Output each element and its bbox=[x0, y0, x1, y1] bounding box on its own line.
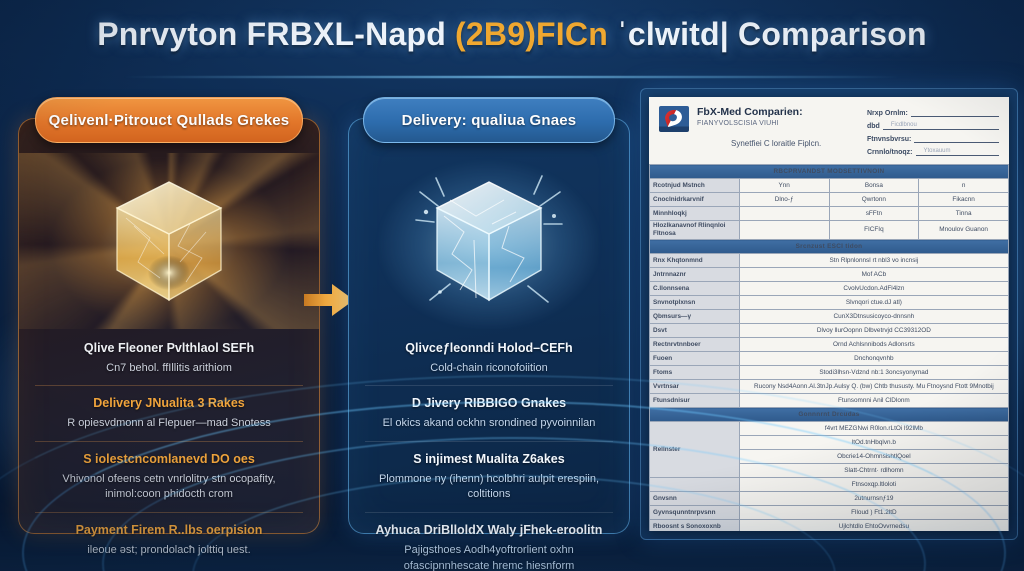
row-label: Snvnotplxnsn bbox=[650, 296, 740, 310]
row-label: Vvrtnsar bbox=[650, 380, 740, 394]
block-heading: Payment Firem R..lbs oerpision bbox=[35, 522, 303, 539]
glowing-amber-cube-icon bbox=[94, 166, 244, 316]
row-cell: sFFtn bbox=[829, 207, 919, 221]
block-text: Pajigsthoes Aodh4yoftrorlient oxhn ofasc… bbox=[365, 543, 613, 571]
table-row[interactable]: Rellnsterf4vrt MEZGNwi R0lon.rLtOi l92lM… bbox=[650, 422, 1009, 436]
row-cell: Obcrie14-OhmnsishtlQoel bbox=[739, 450, 1008, 464]
table-row[interactable]: Rcotnjud Mstnch Ynn Bonsa n bbox=[650, 179, 1009, 193]
table-row[interactable]: DsvtDlvoy llurOopnn Dlbvetrvjd CC39312OD bbox=[650, 324, 1009, 338]
row-cell: 2utnurnsnƒ19 bbox=[739, 492, 1008, 506]
form-field-0[interactable]: Nrxp Ornlm: bbox=[867, 108, 999, 117]
document-subtitle: FIANYVOLSCISIA VIUHI bbox=[697, 119, 859, 128]
logo-swirl-mark bbox=[663, 108, 684, 128]
row-label bbox=[650, 478, 740, 492]
panel-left-block-1: Delivery JNualita 3 Rakes R opiesvdmonn … bbox=[35, 385, 303, 440]
row-cell: Ftnsoxqp.ltloloti bbox=[739, 478, 1008, 492]
row-cell: CvolvUcdon.AdFl4lzn bbox=[739, 282, 1008, 296]
row-cell: ltOd.tnHbqlvn.b bbox=[739, 436, 1008, 450]
row-label: Gnvsnn bbox=[650, 492, 740, 506]
form-field-2[interactable]: Ftnvnsbvrsu: bbox=[867, 134, 999, 143]
row-cell: Stodi3lhsn-Vdznd nb:1 3oncsyonymad bbox=[739, 366, 1008, 380]
row-cell: Bonsa bbox=[829, 179, 919, 193]
panel-middle-header: Delivery: qualiua Gnaes bbox=[363, 97, 615, 143]
row-label: Rellnster bbox=[650, 422, 740, 478]
row-cell: f4vrt MEZGNwi R0lon.rLtOi l92lMb bbox=[739, 422, 1008, 436]
table-body: RBCPRVANDST MODSETTIVNOIN Rcotnjud Mstnc… bbox=[650, 165, 1009, 532]
block-heading: Ayhuca DriBlloldX Waly jFhek-eroolitn bbox=[365, 522, 613, 539]
table-row[interactable]: Cnoclnidrkarvnif Dlno-ƒ Qwrtonn Fikacnn bbox=[650, 193, 1009, 207]
row-cell: Qwrtonn bbox=[829, 193, 919, 207]
row-label: Rectnrvtnnboer bbox=[650, 338, 740, 352]
row-label: Minnhloqkj bbox=[650, 207, 740, 221]
document-fade bbox=[649, 505, 1009, 531]
panel-middle-block-2: S injimest Mualita Z6akes Plommone ny (i… bbox=[365, 441, 613, 512]
document-frame[interactable]: FbX-Med Comparien: FIANYVOLSCISIA VIUHI … bbox=[640, 88, 1018, 540]
row-cell: Ornd Achlsnnibods Adlonsrts bbox=[739, 338, 1008, 352]
block-heading: Delivery JNualita 3 Rakes bbox=[35, 395, 303, 412]
table-section-row: RBCPRVANDST MODSETTIVNOIN bbox=[650, 165, 1009, 179]
row-cell: Ynn bbox=[739, 179, 829, 193]
table-row[interactable]: FtunsdnisurFtunsomnni Anil ClDlonm bbox=[650, 394, 1009, 408]
row-cell bbox=[739, 221, 829, 240]
block-heading: D Jivery RIBBIGO Gnakes bbox=[365, 395, 613, 412]
company-logo-icon bbox=[659, 106, 689, 132]
field-value: Ficdlbnou bbox=[891, 122, 917, 128]
block-heading: S iolestcncomlanevd DO oes bbox=[35, 451, 303, 468]
section-header: RBCPRVANDST MODSETTIVNOIN bbox=[650, 165, 1009, 179]
panel-cold-chain-delivery[interactable]: Delivery: qualiua Gnaes bbox=[348, 118, 630, 534]
row-cell: Ftunsomnni Anil ClDlonm bbox=[739, 394, 1008, 408]
row-label: Qbmsurs—γ bbox=[650, 310, 740, 324]
document-title: FbX-Med Comparien: bbox=[697, 106, 859, 119]
row-label: Fuoen bbox=[650, 352, 740, 366]
panel-left-block-0: Qlive Fleoner Pvlthlaol SEFh Cn7 behol. … bbox=[35, 331, 303, 385]
block-heading: Qlivceƒleonndi Holod–CEFh bbox=[365, 340, 613, 357]
table-row[interactable]: Hlozlkanavnof Rlinqnloi Fltnosa FICFIq M… bbox=[650, 221, 1009, 240]
table-row[interactable]: Ftnsoxqp.ltloloti bbox=[650, 478, 1009, 492]
block-text: Cn7 behol. ffIllitis arithiom bbox=[35, 361, 303, 377]
row-cell: Slvnqori ctue.dJ atl) bbox=[739, 296, 1008, 310]
row-cell: Mnoulov Guanon bbox=[919, 221, 1009, 240]
table-row[interactable]: Gnvsnn2utnurnsnƒ19 bbox=[650, 492, 1009, 506]
row-label: Rnx Khqtonmnd bbox=[650, 254, 740, 268]
row-cell: n bbox=[919, 179, 1009, 193]
block-heading: S injimest Mualita Z6akes bbox=[365, 451, 613, 468]
panel-left-hero bbox=[19, 153, 319, 329]
field-input[interactable]: Ytoxauum bbox=[916, 147, 1000, 156]
row-cell: Tinna bbox=[919, 207, 1009, 221]
field-input[interactable]: Ficdlbnou bbox=[883, 121, 999, 130]
panel-left-block-3: Payment Firem R..lbs oerpision ileoue əs… bbox=[35, 512, 303, 567]
document-data-table[interactable]: RBCPRVANDST MODSETTIVNOIN Rcotnjud Mstnc… bbox=[649, 164, 1009, 531]
block-text: ileoue əst; prondolacħ jolttiq uest. bbox=[35, 543, 303, 559]
row-label: Ftoms bbox=[650, 366, 740, 380]
row-cell: CunX3Dtnsusicoyco-dnnsnh bbox=[739, 310, 1008, 324]
document-title-group: FbX-Med Comparien: FIANYVOLSCISIA VIUHI … bbox=[697, 106, 859, 160]
row-label: Cnoclnidrkarvnif bbox=[650, 193, 740, 207]
panel-middle-block-3: Ayhuca DriBlloldX Waly jFhek-eroolitn Pa… bbox=[365, 512, 613, 571]
block-heading: Qlive Fleoner Pvlthlaol SEFh bbox=[35, 340, 303, 357]
row-label: Jntrnnaznr bbox=[650, 268, 740, 282]
field-value: Ytoxauum bbox=[924, 148, 951, 154]
table-row[interactable]: SnvnotplxnsnSlvnqori ctue.dJ atl) bbox=[650, 296, 1009, 310]
row-cell bbox=[739, 207, 829, 221]
block-text: El okics akand ockhn srondined pyvoinnil… bbox=[365, 416, 613, 432]
comparison-document[interactable]: FbX-Med Comparien: FIANYVOLSCISIA VIUHI … bbox=[649, 97, 1009, 531]
row-label: C.llonnsena bbox=[650, 282, 740, 296]
table-row[interactable]: Qbmsurs—γCunX3Dtnsusicoyco-dnnsnh bbox=[650, 310, 1009, 324]
field-input[interactable] bbox=[914, 134, 999, 143]
field-label: Nrxp Ornlm: bbox=[867, 110, 908, 117]
row-label: Hlozlkanavnof Rlinqnloi Fltnosa bbox=[650, 221, 740, 240]
table-row[interactable]: FtomsStodi3lhsn-Vdznd nb:1 3oncsyonymad bbox=[650, 366, 1009, 380]
row-cell: Dnchonqvnhb bbox=[739, 352, 1008, 366]
panel-left-header: Qelivenl·Pitrouct Qullads Grekes bbox=[35, 97, 303, 143]
row-cell: Stn Rlpnlonnsl rt nbl3 vo incnsij bbox=[739, 254, 1008, 268]
document-form-fields[interactable]: Nrxp Ornlm: dbd Ficdlbnou Ftnvnsbvrsu: bbox=[867, 106, 999, 160]
block-text: Cold-chain riconofoiition bbox=[365, 361, 613, 377]
panel-middle-block-0: Qlivceƒleonndi Holod–CEFh Cold-chain ric… bbox=[365, 331, 613, 385]
panel-left-block-2: S iolestcncomlanevd DO oes Vhivonol ofee… bbox=[35, 441, 303, 512]
row-cell: FICFIq bbox=[829, 221, 919, 240]
panel-ambient-delivery[interactable]: Qelivenl·Pitrouct Qullads Grekes bbox=[18, 118, 320, 534]
row-cell: Dlvoy llurOopnn Dlbvetrvjd CC39312OD bbox=[739, 324, 1008, 338]
table-row[interactable]: Rnx KhqtonmndStn Rlpnlonnsl rt nbl3 vo i… bbox=[650, 254, 1009, 268]
block-text: Plommone ny (ihenn) hcolbhri aulpit eres… bbox=[365, 472, 613, 503]
block-text: R opiesvdmonn al Flepuer—mad Snotess bbox=[35, 416, 303, 432]
slide-canvas: Pnrvyton FRBXL-Napd (2B9)FICn ˈclwitd| C… bbox=[0, 0, 1024, 571]
table-row[interactable]: VvrtnsarRucony Nsd4Aonn.Al.3tnJp.Aulsy Q… bbox=[650, 380, 1009, 394]
panel-middle-block-1: D Jivery RIBBIGO Gnakes El okics akand o… bbox=[365, 385, 613, 440]
row-label: Rcotnjud Mstnch bbox=[650, 179, 740, 193]
table-row[interactable]: RectnrvtnnboerOrnd Achlsnnibods Adlonsrt… bbox=[650, 338, 1009, 352]
form-field-3[interactable]: Crnnlo/tnoqz: Ytoxauum bbox=[867, 147, 999, 156]
panel-middle-hero bbox=[349, 153, 629, 329]
table-section-row: Srcnzust ESCI tidon bbox=[650, 240, 1009, 254]
row-cell: Rucony Nsd4Aonn.Al.3tnJp.Aulsy Q. (bw) C… bbox=[739, 380, 1008, 394]
row-cell: Fikacnn bbox=[919, 193, 1009, 207]
row-cell: Slatt-Chtrnt· rdlhomn bbox=[739, 464, 1008, 478]
comparison-panels: Qelivenl·Pitrouct Qullads Grekes bbox=[0, 0, 1024, 571]
row-cell: Dlno-ƒ bbox=[739, 193, 829, 207]
field-label: Crnnlo/tnoqz: bbox=[867, 149, 913, 156]
table-row[interactable]: Minnhloqkj sFFtn Tinna bbox=[650, 207, 1009, 221]
field-label: dbd bbox=[867, 123, 880, 130]
table-row[interactable]: C.llonnsenaCvolvUcdon.AdFl4lzn bbox=[650, 282, 1009, 296]
panel-middle-body: Qlivceƒleonndi Holod–CEFh Cold-chain ric… bbox=[349, 331, 629, 523]
form-field-1[interactable]: dbd Ficdlbnou bbox=[867, 121, 999, 130]
row-label: Dsvt bbox=[650, 324, 740, 338]
frozen-ice-cube-icon bbox=[414, 166, 564, 316]
section-header: Srcnzust ESCI tidon bbox=[650, 240, 1009, 254]
field-input[interactable] bbox=[911, 108, 999, 117]
document-caption: Synetfiei C loraitle Fiplcn. bbox=[697, 139, 859, 148]
block-text: Vhivonol ofeens cetn vnrlolitry stn ocop… bbox=[35, 472, 303, 503]
row-cell: Mof ACb bbox=[739, 268, 1008, 282]
row-label: Ftunsdnisur bbox=[650, 394, 740, 408]
table-row[interactable]: FuoenDnchonqvnhb bbox=[650, 352, 1009, 366]
field-label: Ftnvnsbvrsu: bbox=[867, 136, 911, 143]
panel-left-body: Qlive Fleoner Pvlthlaol SEFh Cn7 behol. … bbox=[19, 331, 319, 523]
table-row[interactable]: JntrnnaznrMof ACb bbox=[650, 268, 1009, 282]
section-header: Gonnnrnt Drcudas bbox=[650, 408, 1009, 422]
document-header: FbX-Med Comparien: FIANYVOLSCISIA VIUHI … bbox=[649, 97, 1009, 164]
table-section-row: Gonnnrnt Drcudas bbox=[650, 408, 1009, 422]
